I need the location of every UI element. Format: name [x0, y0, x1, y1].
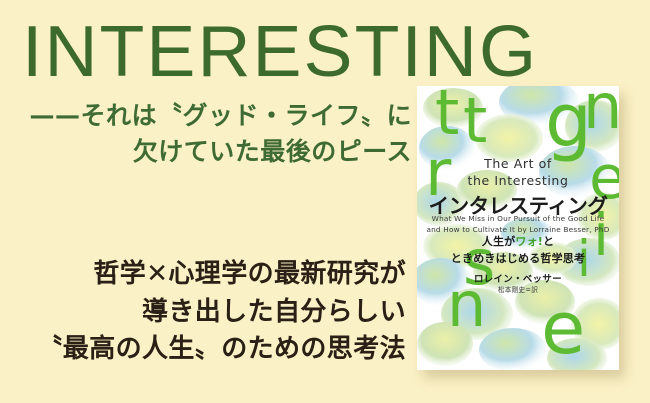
cover-typography: The Art of the Interesting インタレスティング Wha…	[417, 86, 619, 370]
cover-japanese-subtitle-line-1: 人生がワォ!と	[417, 234, 619, 251]
body-copy-line-3: 〝最高の人生〟のための思考法	[0, 331, 406, 369]
promotional-banner: INTERESTING ——それは〝グッド・ライフ〟に 欠けていた最後のピース …	[0, 0, 650, 403]
subheadline-line-2: 欠けていた最後のピース	[0, 134, 412, 170]
copy-block: INTERESTING ——それは〝グッド・ライフ〟に 欠けていた最後のピース …	[0, 0, 420, 403]
cover-subtitle-pre: 人生が	[482, 235, 516, 248]
subheadline: ——それは〝グッド・ライフ〟に 欠けていた最後のピース	[0, 98, 412, 169]
body-copy-line-1: 哲学✕心理学の最新研究が	[0, 256, 406, 294]
cover-english-subtitle-line-1: What We Miss in Our Pursuit of the Good …	[417, 214, 619, 225]
body-copy: 哲学✕心理学の最新研究が 導き出した自分らしい 〝最高の人生〟のための思考法	[0, 256, 406, 369]
body-copy-line-2: 導き出した自分らしい	[0, 294, 406, 332]
cover-subtitle-accent: ワォ!	[515, 235, 543, 248]
cover-english-subtitle: What We Miss in Our Pursuit of the Good …	[417, 214, 619, 235]
cover-english-title: The Art of the Interesting	[417, 156, 619, 190]
cover-japanese-subtitle-line-2: ときめきはじめる哲学思考	[417, 251, 619, 268]
cover-author: ロレイン・ベッサー	[417, 271, 619, 285]
cover-subtitle-post: と	[543, 235, 554, 248]
subheadline-line-1: ——それは〝グッド・ライフ〟に	[0, 98, 412, 134]
book-cover-figure: t t g n e r i s n e i The Art of the Int…	[417, 86, 619, 370]
page-title: INTERESTING	[22, 16, 538, 88]
cover-english-title-line-1: The Art of	[417, 156, 619, 173]
cover-japanese-subtitle: 人生がワォ!と ときめきはじめる哲学思考	[417, 234, 619, 267]
book-cover: t t g n e r i s n e i The Art of the Int…	[417, 86, 619, 370]
cover-english-title-line-2: the Interesting	[417, 173, 619, 190]
cover-translator: 松本剛史=訳	[417, 284, 619, 294]
